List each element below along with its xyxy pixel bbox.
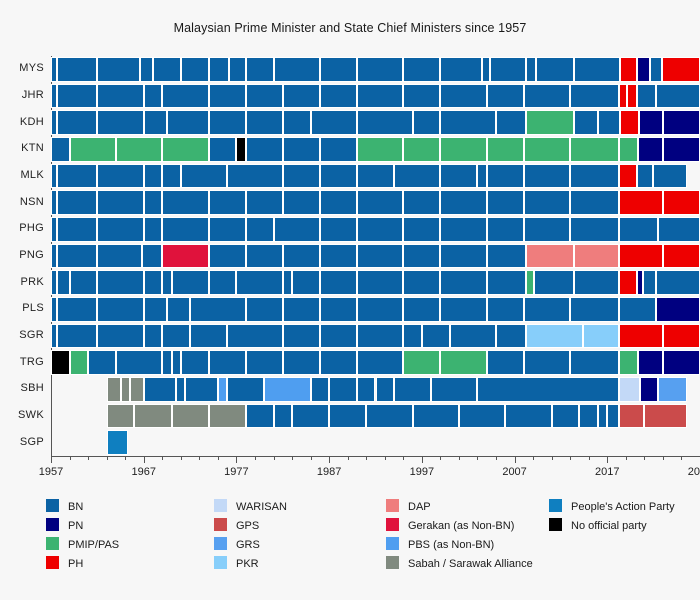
timeline-segment[interactable] [190, 324, 227, 349]
timeline-segment[interactable] [639, 110, 663, 135]
timeline-segment[interactable] [640, 377, 659, 402]
timeline-segment[interactable] [274, 57, 320, 82]
timeline-segment[interactable] [357, 324, 403, 349]
timeline-segment[interactable] [357, 297, 403, 322]
x-axis-tick-label: 1967 [131, 466, 155, 478]
timeline-segment[interactable] [656, 270, 700, 295]
timeline-segment[interactable] [57, 217, 98, 242]
timeline-segment[interactable] [413, 404, 459, 429]
timeline-segment[interactable] [236, 270, 282, 295]
timeline-segment[interactable] [209, 137, 237, 162]
timeline-segment[interactable] [144, 190, 163, 215]
timeline-segment[interactable] [619, 137, 638, 162]
timeline-segment[interactable] [526, 57, 536, 82]
timeline-segment[interactable] [185, 377, 217, 402]
x-axis-major-tick [51, 456, 52, 463]
timeline-segment[interactable] [524, 137, 570, 162]
timeline-segment[interactable] [376, 377, 395, 402]
timeline-segment[interactable] [440, 350, 486, 375]
timeline-segment[interactable] [357, 244, 403, 269]
timeline-segment[interactable] [51, 350, 70, 375]
timeline-segment[interactable] [130, 377, 144, 402]
timeline-segment[interactable] [172, 350, 181, 375]
timeline-segment[interactable] [246, 84, 283, 109]
timeline-segment[interactable] [526, 324, 583, 349]
timeline-segment[interactable] [619, 324, 663, 349]
timeline-segment[interactable] [440, 270, 486, 295]
legend-label: GPS [236, 517, 259, 536]
timeline-segment[interactable] [320, 270, 357, 295]
timeline-segment[interactable] [320, 244, 357, 269]
x-axis-minor-tick [459, 456, 460, 460]
legend-item[interactable]: PKR [214, 555, 287, 574]
x-axis-tick-label: 2017 [595, 466, 619, 478]
timeline-segment[interactable] [619, 217, 658, 242]
timeline-segment[interactable] [88, 350, 116, 375]
timeline-segment[interactable] [574, 270, 619, 295]
timeline-segment[interactable] [496, 110, 526, 135]
timeline-segment[interactable] [57, 164, 98, 189]
timeline-segment[interactable] [413, 110, 441, 135]
timeline-segment[interactable] [403, 270, 440, 295]
timeline-segment[interactable] [524, 190, 570, 215]
timeline-segment[interactable] [357, 270, 403, 295]
timeline-segment[interactable] [320, 137, 357, 162]
legend-item[interactable]: No official party [549, 517, 675, 536]
timeline-segment[interactable] [570, 164, 619, 189]
timeline-segment[interactable] [357, 164, 394, 189]
timeline-segment[interactable] [176, 377, 185, 402]
timeline-segment[interactable] [403, 324, 422, 349]
legend-item[interactable]: DAP [386, 498, 533, 517]
timeline-segment[interactable] [283, 244, 320, 269]
timeline-segment[interactable] [487, 297, 524, 322]
timeline-segment[interactable] [643, 270, 656, 295]
timeline-segment[interactable] [440, 244, 486, 269]
x-axis-major-tick [422, 456, 423, 463]
timeline-segment[interactable] [264, 377, 310, 402]
timeline-segment[interactable] [637, 84, 656, 109]
timeline-segment[interactable] [144, 217, 163, 242]
timeline-segment[interactable] [620, 57, 637, 82]
timeline-segment[interactable] [403, 137, 440, 162]
timeline-segment[interactable] [403, 190, 440, 215]
timeline-segment[interactable] [440, 57, 482, 82]
timeline-segment[interactable] [619, 190, 663, 215]
timeline-segment[interactable] [107, 404, 135, 429]
timeline-segment[interactable] [246, 404, 274, 429]
timeline-segment[interactable] [246, 244, 283, 269]
timeline-segment[interactable] [107, 377, 121, 402]
timeline-segment[interactable] [144, 324, 163, 349]
timeline-segment[interactable] [357, 190, 403, 215]
legend-item[interactable]: WARISAN [214, 498, 287, 517]
legend-item[interactable]: GPS [214, 517, 287, 536]
timeline-segment[interactable] [153, 57, 181, 82]
timeline-segment[interactable] [162, 350, 171, 375]
timeline-segment[interactable] [570, 190, 619, 215]
timeline-segment[interactable] [487, 84, 524, 109]
timeline-segment[interactable] [134, 404, 171, 429]
timeline-segment[interactable] [526, 244, 574, 269]
legend-item[interactable]: PBS (as Non-BN) [386, 536, 533, 555]
timeline-segment[interactable] [574, 57, 620, 82]
timeline-segment[interactable] [97, 324, 143, 349]
timeline-segment[interactable] [227, 324, 283, 349]
timeline-segment[interactable] [162, 324, 190, 349]
timeline-segment[interactable] [218, 377, 227, 402]
timeline-segment[interactable] [403, 297, 440, 322]
y-axis-label-jhr: JHR [0, 89, 44, 101]
timeline-segment[interactable] [320, 297, 357, 322]
timeline-segment[interactable] [162, 270, 171, 295]
timeline-segment[interactable] [57, 190, 98, 215]
timeline-segment[interactable] [570, 137, 619, 162]
timeline-segment[interactable] [598, 404, 607, 429]
timeline-segment[interactable] [209, 270, 237, 295]
timeline-segment[interactable] [526, 270, 534, 295]
timeline-row [51, 243, 700, 270]
timeline-segment[interactable] [487, 190, 524, 215]
timeline-segment[interactable] [246, 57, 274, 82]
timeline-segment[interactable] [57, 84, 98, 109]
timeline-segment[interactable] [97, 190, 143, 215]
timeline-segment[interactable] [227, 164, 283, 189]
timeline-segment[interactable] [311, 110, 357, 135]
timeline-segment[interactable] [320, 190, 357, 215]
timeline-segment[interactable] [70, 137, 116, 162]
timeline-segment[interactable] [162, 84, 208, 109]
legend-item[interactable]: PH [46, 555, 119, 574]
timeline-segment[interactable] [403, 244, 440, 269]
timeline-segment[interactable] [574, 110, 598, 135]
timeline-segment[interactable] [181, 164, 227, 189]
timeline-segment[interactable] [403, 217, 440, 242]
timeline-segment[interactable] [440, 84, 486, 109]
y-axis-label-sgr: SGR [0, 329, 44, 341]
timeline-segment[interactable] [403, 57, 440, 82]
timeline-segment[interactable] [236, 137, 245, 162]
timeline-segment[interactable] [329, 377, 357, 402]
timeline-segment[interactable] [320, 217, 357, 242]
timeline-segment[interactable] [357, 84, 403, 109]
x-axis-minor-tick [181, 456, 182, 460]
timeline-segment[interactable] [57, 244, 98, 269]
timeline-segment[interactable] [144, 270, 163, 295]
timeline-segment[interactable] [320, 164, 357, 189]
timeline-segment[interactable] [663, 110, 700, 135]
timeline-segment[interactable] [121, 377, 130, 402]
timeline-segment[interactable] [658, 217, 700, 242]
legend-swatch-icon [386, 518, 399, 531]
timeline-segment[interactable] [570, 217, 619, 242]
timeline-segment[interactable] [97, 57, 140, 82]
timeline-segment[interactable] [619, 350, 638, 375]
timeline-segment[interactable] [620, 110, 639, 135]
y-axis-label-phg: PHG [0, 222, 44, 234]
timeline-segment[interactable] [570, 350, 619, 375]
timeline-segment[interactable] [440, 190, 486, 215]
timeline-segment[interactable] [598, 110, 620, 135]
timeline-segment[interactable] [440, 110, 496, 135]
timeline-segment[interactable] [209, 57, 229, 82]
timeline-segment[interactable] [116, 350, 162, 375]
timeline-segment[interactable] [650, 57, 662, 82]
timeline-segment[interactable] [487, 217, 524, 242]
timeline-segment[interactable] [627, 84, 637, 109]
timeline-segment[interactable] [487, 270, 526, 295]
timeline-segment[interactable] [209, 84, 246, 109]
timeline-segment[interactable] [619, 84, 626, 109]
timeline-segment[interactable] [619, 270, 637, 295]
timeline-segment[interactable] [181, 57, 209, 82]
timeline-segment[interactable] [229, 57, 246, 82]
timeline-segment[interactable] [663, 137, 700, 162]
timeline-segment[interactable] [144, 84, 163, 109]
timeline-segment[interactable] [283, 84, 320, 109]
timeline-segment[interactable] [583, 324, 619, 349]
timeline-plot-area [51, 56, 700, 456]
timeline-segment[interactable] [487, 164, 524, 189]
timeline-segment[interactable] [246, 217, 274, 242]
timeline-segment[interactable] [357, 350, 403, 375]
legend-label: Sabah / Sarawak Alliance [408, 555, 533, 574]
timeline-segment[interactable] [440, 164, 477, 189]
timeline-segment[interactable] [638, 137, 663, 162]
timeline-segment[interactable] [283, 110, 311, 135]
legend-column: DAPGerakan (as Non-BN)PBS (as Non-BN)Sab… [386, 498, 533, 574]
x-axis-tick-label: 1957 [39, 466, 63, 478]
timeline-segment[interactable] [487, 137, 524, 162]
timeline-segment[interactable] [107, 430, 128, 455]
timeline-segment[interactable] [283, 190, 320, 215]
timeline-segment[interactable] [619, 164, 637, 189]
timeline-segment[interactable] [144, 297, 167, 322]
timeline-segment[interactable] [320, 84, 357, 109]
timeline-segment[interactable] [57, 110, 98, 135]
timeline-segment[interactable] [97, 244, 142, 269]
timeline-segment[interactable] [450, 324, 496, 349]
timeline-segment[interactable] [329, 404, 366, 429]
timeline-segment[interactable] [283, 270, 292, 295]
timeline-segment[interactable] [97, 297, 143, 322]
timeline-segment[interactable] [619, 404, 644, 429]
timeline-segment[interactable] [366, 404, 412, 429]
timeline-row [51, 349, 700, 376]
timeline-segment[interactable] [477, 377, 619, 402]
timeline-segment[interactable] [97, 270, 143, 295]
timeline-segment[interactable] [524, 217, 570, 242]
timeline-segment[interactable] [283, 297, 320, 322]
timeline-segment[interactable] [477, 164, 486, 189]
timeline-segment[interactable] [167, 110, 209, 135]
timeline-segment[interactable] [144, 164, 163, 189]
timeline-segment[interactable] [190, 297, 246, 322]
timeline-segment[interactable] [644, 404, 687, 429]
timeline-segment[interactable] [638, 350, 663, 375]
timeline-segment[interactable] [357, 217, 403, 242]
timeline-segment[interactable] [656, 297, 700, 322]
timeline-segment[interactable] [209, 404, 246, 429]
timeline-segment[interactable] [246, 297, 283, 322]
timeline-segment[interactable] [526, 110, 574, 135]
timeline-segment[interactable] [524, 297, 570, 322]
timeline-segment[interactable] [140, 57, 153, 82]
timeline-segment[interactable] [162, 190, 208, 215]
timeline-segment[interactable] [274, 217, 320, 242]
timeline-segment[interactable] [162, 217, 208, 242]
timeline-segment[interactable] [459, 404, 505, 429]
timeline-segment[interactable] [181, 350, 209, 375]
timeline-segment[interactable] [162, 164, 181, 189]
timeline-segment[interactable] [209, 190, 246, 215]
legend-swatch-icon [549, 518, 562, 531]
timeline-segment[interactable] [70, 350, 89, 375]
timeline-row [51, 323, 700, 350]
timeline-segment[interactable] [57, 57, 98, 82]
y-axis-label-png: PNG [0, 249, 44, 261]
timeline-segment[interactable] [97, 84, 143, 109]
timeline-segment[interactable] [394, 377, 431, 402]
timeline-segment[interactable] [394, 164, 440, 189]
timeline-segment[interactable] [144, 110, 167, 135]
legend-label: PMIP/PAS [68, 536, 119, 555]
timeline-segment[interactable] [524, 164, 570, 189]
legend-column: WARISANGPSGRSPKR [214, 498, 287, 574]
timeline-segment[interactable] [57, 297, 98, 322]
timeline-segment[interactable] [311, 377, 330, 402]
timeline-segment[interactable] [209, 350, 246, 375]
timeline-segment[interactable] [142, 244, 162, 269]
legend-label: Gerakan (as Non-BN) [408, 517, 514, 536]
timeline-segment[interactable] [570, 297, 619, 322]
timeline-segment[interactable] [431, 377, 477, 402]
timeline-segment[interactable] [283, 324, 320, 349]
legend-item[interactable]: BN [46, 498, 119, 517]
x-axis-minor-tick [403, 456, 404, 460]
timeline-segment[interactable] [320, 350, 357, 375]
legend-swatch-icon [46, 537, 59, 550]
legend-item[interactable]: PMIP/PAS [46, 536, 119, 555]
timeline-segment[interactable] [227, 377, 264, 402]
timeline-segment[interactable] [403, 350, 440, 375]
timeline-segment[interactable] [662, 57, 700, 82]
timeline-segment[interactable] [246, 110, 283, 135]
timeline-segment[interactable] [607, 404, 619, 429]
timeline-segment[interactable] [246, 190, 283, 215]
timeline-segment[interactable] [357, 137, 403, 162]
timeline-segment[interactable] [292, 270, 320, 295]
timeline-segment[interactable] [619, 297, 656, 322]
timeline-segment[interactable] [57, 324, 98, 349]
x-axis-minor-tick [533, 456, 534, 460]
timeline-segment[interactable] [653, 164, 687, 189]
legend-swatch-icon [46, 518, 59, 531]
timeline-segment[interactable] [246, 137, 283, 162]
timeline-segment[interactable] [570, 84, 619, 109]
timeline-segment[interactable] [97, 164, 143, 189]
timeline-segment[interactable] [283, 137, 320, 162]
timeline-segment[interactable] [524, 350, 570, 375]
timeline-segment[interactable] [172, 270, 209, 295]
timeline-segment[interactable] [70, 270, 98, 295]
timeline-segment[interactable] [663, 324, 700, 349]
timeline-segment[interactable] [209, 110, 246, 135]
timeline-segment[interactable] [97, 110, 143, 135]
timeline-segment[interactable] [116, 137, 162, 162]
timeline-segment[interactable] [209, 217, 246, 242]
timeline-segment[interactable] [663, 350, 700, 375]
timeline-segment[interactable] [320, 324, 357, 349]
timeline-segment[interactable] [619, 377, 639, 402]
timeline-segment[interactable] [162, 137, 208, 162]
timeline-segment[interactable] [440, 137, 486, 162]
timeline-segment[interactable] [440, 217, 486, 242]
timeline-segment[interactable] [482, 57, 489, 82]
timeline-segment[interactable] [209, 244, 246, 269]
timeline-segment[interactable] [422, 324, 450, 349]
x-axis-minor-tick [199, 456, 200, 460]
timeline-segment[interactable] [274, 404, 293, 429]
timeline-segment[interactable] [440, 297, 486, 322]
timeline-segment[interactable] [536, 57, 574, 82]
legend-item[interactable]: GRS [214, 536, 287, 555]
timeline-segment[interactable] [552, 404, 580, 429]
timeline-segment[interactable] [619, 244, 663, 269]
timeline-segment[interactable] [162, 244, 208, 269]
timeline-segment[interactable] [246, 350, 283, 375]
timeline-segment[interactable] [403, 84, 440, 109]
timeline-segment[interactable] [496, 324, 526, 349]
timeline-segment[interactable] [97, 217, 143, 242]
timeline-segment[interactable] [574, 244, 619, 269]
timeline-segment[interactable] [658, 377, 687, 402]
timeline-segment[interactable] [505, 404, 551, 429]
timeline-segment[interactable] [144, 377, 176, 402]
x-axis-minor-tick [385, 456, 386, 460]
timeline-segment[interactable] [172, 404, 209, 429]
timeline-segment[interactable] [283, 350, 320, 375]
legend-item[interactable]: People's Action Party [549, 498, 675, 517]
timeline-segment[interactable] [320, 57, 357, 82]
timeline-segment[interactable] [663, 190, 700, 215]
timeline-segment[interactable] [534, 270, 574, 295]
timeline-segment[interactable] [637, 57, 650, 82]
chart-title: Malaysian Prime Minister and State Chief… [0, 21, 700, 35]
timeline-segment[interactable] [292, 404, 329, 429]
legend-item[interactable]: PN [46, 517, 119, 536]
timeline-segment[interactable] [357, 57, 403, 82]
x-axis-minor-tick [366, 456, 367, 460]
timeline-segment[interactable] [637, 164, 653, 189]
timeline-segment[interactable] [357, 110, 413, 135]
timeline-segment[interactable] [51, 137, 70, 162]
legend-item[interactable]: Sabah / Sarawak Alliance [386, 555, 533, 574]
timeline-segment[interactable] [487, 244, 526, 269]
timeline-segment[interactable] [487, 350, 524, 375]
legend-item[interactable]: Gerakan (as Non-BN) [386, 517, 533, 536]
timeline-segment[interactable] [167, 297, 190, 322]
timeline-segment[interactable] [283, 164, 320, 189]
timeline-segment[interactable] [524, 84, 570, 109]
timeline-segment[interactable] [490, 57, 526, 82]
timeline-segment[interactable] [357, 377, 376, 402]
timeline-segment[interactable] [656, 84, 700, 109]
x-axis-minor-tick [274, 456, 275, 460]
timeline-segment[interactable] [579, 404, 598, 429]
timeline-segment[interactable] [57, 270, 70, 295]
timeline-segment[interactable] [663, 244, 700, 269]
